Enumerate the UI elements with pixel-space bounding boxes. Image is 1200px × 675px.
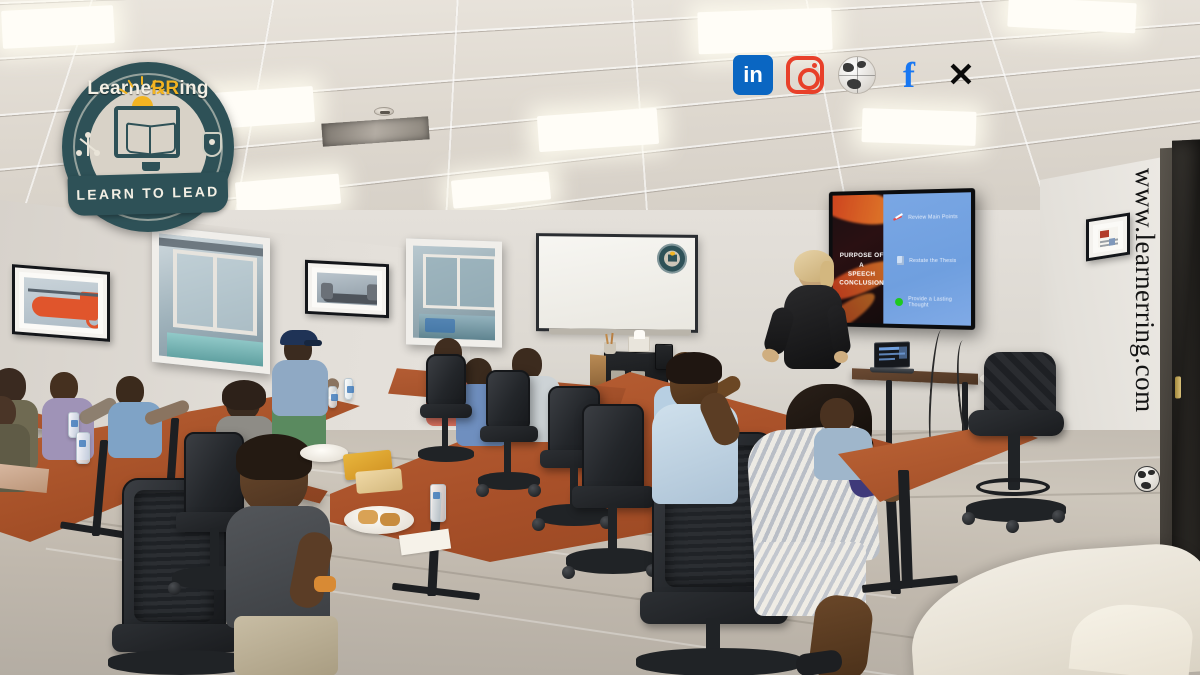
water-bottle	[328, 386, 337, 408]
website-url-watermark: www.learnerring.com	[1129, 168, 1160, 413]
presenter-laptop[interactable]	[874, 341, 910, 368]
network-node-icon	[78, 134, 98, 156]
student-hair	[222, 380, 266, 410]
stool-caster	[1052, 510, 1065, 523]
slide-right-panel: Review Main Points Restate the Thesis Pr…	[884, 192, 971, 325]
quilted-drafting-stool-seat	[968, 410, 1064, 436]
chair-post	[442, 416, 448, 450]
logo-tagline-banner: LEARN TO LEAD	[68, 172, 229, 216]
chair-post	[210, 528, 219, 572]
snack-box	[0, 463, 49, 493]
open-book-icon	[126, 124, 176, 150]
presenter	[776, 253, 848, 393]
student-shorts	[234, 616, 338, 675]
check-mark-icon	[893, 214, 903, 222]
door-handle[interactable]	[1175, 376, 1181, 398]
presenter-hand-right	[834, 351, 848, 363]
chair-base	[418, 446, 474, 462]
instagram-icon[interactable]	[785, 55, 825, 95]
slide-bullet-3-text: Provide a Lasting Thought	[908, 296, 971, 309]
linkedin-icon[interactable]: in	[733, 55, 773, 95]
interior-window-mid	[406, 238, 502, 347]
student-hair	[236, 434, 312, 480]
facebook-icon[interactable]: f	[889, 55, 929, 95]
mesh-task-chair[interactable]	[426, 354, 466, 408]
globe-icon	[1134, 466, 1160, 492]
water-bottle	[430, 484, 446, 522]
whiteboard-logo-decal	[657, 243, 687, 273]
water-bottle	[344, 378, 353, 400]
chair-caster	[476, 484, 489, 497]
snack-plate	[300, 444, 348, 462]
chair-base	[108, 650, 254, 675]
snack-box	[355, 468, 403, 494]
mesh-task-chair[interactable]	[184, 432, 244, 518]
linkedin-glyph: in	[743, 62, 763, 88]
slide-bullet-1: Review Main Points	[893, 213, 958, 222]
chair-caster	[528, 484, 541, 497]
wall-mounted-display: PURPOSE OF A SPEECH CONCLUSION Review Ma…	[829, 188, 975, 330]
cabinet-side	[590, 354, 606, 387]
framed-photo-osprey	[305, 260, 389, 318]
chair-seat	[112, 624, 240, 652]
whiteboard	[536, 233, 698, 333]
chair-caster	[562, 566, 575, 579]
x-glyph: ✕	[947, 56, 975, 93]
stool-caster	[1006, 520, 1019, 533]
logo-word-part2: ing	[179, 78, 208, 99]
learnerring-logo: LearneRRing LEARN TO LEAD	[62, 62, 234, 232]
stool-footring	[976, 478, 1050, 496]
interior-window	[152, 226, 270, 374]
mesh-task-chair[interactable]	[582, 404, 644, 492]
monitor-icon	[114, 106, 180, 158]
slide-bullet-3: Provide a Lasting Thought	[895, 296, 971, 309]
recessed-led-panel	[861, 108, 976, 146]
entry-door[interactable]	[1172, 139, 1200, 571]
document-icon	[897, 256, 904, 265]
chair-caster	[168, 582, 181, 595]
social-icon-bar: in f ✕	[733, 55, 981, 95]
facebook-glyph: f	[903, 55, 915, 95]
slide-bullet-2-text: Restate the Thesis	[909, 257, 956, 263]
stool-base	[966, 498, 1066, 522]
chair-post	[504, 440, 511, 476]
mesh-task-chair[interactable]	[486, 370, 530, 430]
framed-certificate	[1086, 213, 1130, 262]
shield-icon	[202, 132, 222, 157]
smoke-detector	[374, 107, 394, 116]
student-hair	[666, 352, 722, 384]
classroom-photo: PURPOSE OF A SPEECH CONCLUSION Review Ma…	[0, 0, 1200, 675]
stool-caster	[962, 512, 975, 525]
recessed-led-panel	[697, 8, 832, 55]
tissue	[634, 330, 645, 339]
website-globe-icon[interactable]	[837, 55, 877, 95]
recessed-led-panel	[1, 5, 115, 49]
cap-brim	[304, 340, 322, 346]
logo-tagline: LEARN TO LEAD	[68, 183, 228, 203]
chair-caster	[532, 518, 545, 531]
snack	[314, 576, 336, 592]
slide-bullet-2: Restate the Thesis	[897, 256, 956, 265]
water-bottle	[76, 432, 90, 464]
slide-bullet-1-text: Review Main Points	[908, 214, 958, 221]
framed-photo-helicopter	[12, 264, 110, 342]
x-twitter-icon[interactable]: ✕	[941, 55, 981, 95]
chair-base	[636, 648, 802, 675]
snack-plate	[344, 506, 414, 534]
green-dot-icon	[895, 298, 903, 306]
